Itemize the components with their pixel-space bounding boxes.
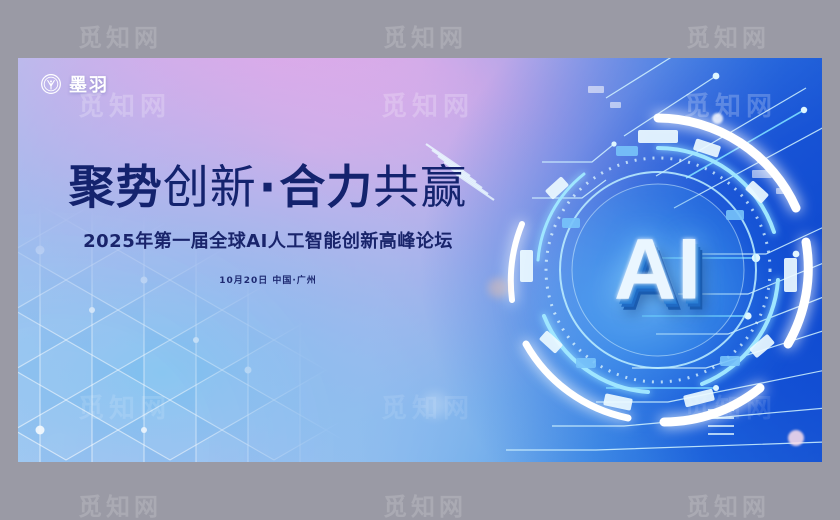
title-part-2: 创新 [163, 160, 257, 214]
backdrop-watermark: 觅知网 [383, 18, 467, 53]
backdrop-watermark: 觅知网 [383, 487, 467, 520]
page-title: 聚势创新·合力共赢 [18, 163, 518, 213]
page-backdrop: 觅知网 觅知网 觅知网 [0, 0, 840, 520]
title-part-3: 合力 [279, 160, 373, 214]
brand-logo-text: 墨羽 [69, 71, 109, 97]
backdrop-watermark: 觅知网 [78, 487, 162, 520]
headline-block: 聚势创新·合力共赢 2025年第一届全球AI人工智能创新高峰论坛 10月20日 … [18, 163, 518, 286]
title-part-1: 聚势 [69, 160, 163, 214]
backdrop-watermark: 觅知网 [78, 18, 162, 53]
page-subtitle: 2025年第一届全球AI人工智能创新高峰论坛 [18, 227, 518, 253]
feather-circle-emblem-icon [40, 73, 62, 95]
backdrop-watermark: 觅知网 [686, 487, 770, 520]
title-part-4: 共赢 [373, 160, 467, 214]
brand-logo[interactable]: 墨羽 [40, 71, 109, 97]
ai-ring-icon [488, 100, 822, 440]
poster-canvas[interactable]: AI 觅知网 觅知网 觅知网 觅知网 觅知网 觅知网 墨羽 聚势 [18, 58, 822, 462]
event-meta: 10月20日 中国·广州 [18, 273, 518, 286]
ai-emblem: AI [488, 100, 822, 440]
backdrop-watermark: 觅知网 [686, 18, 770, 53]
title-separator: · [257, 160, 279, 214]
